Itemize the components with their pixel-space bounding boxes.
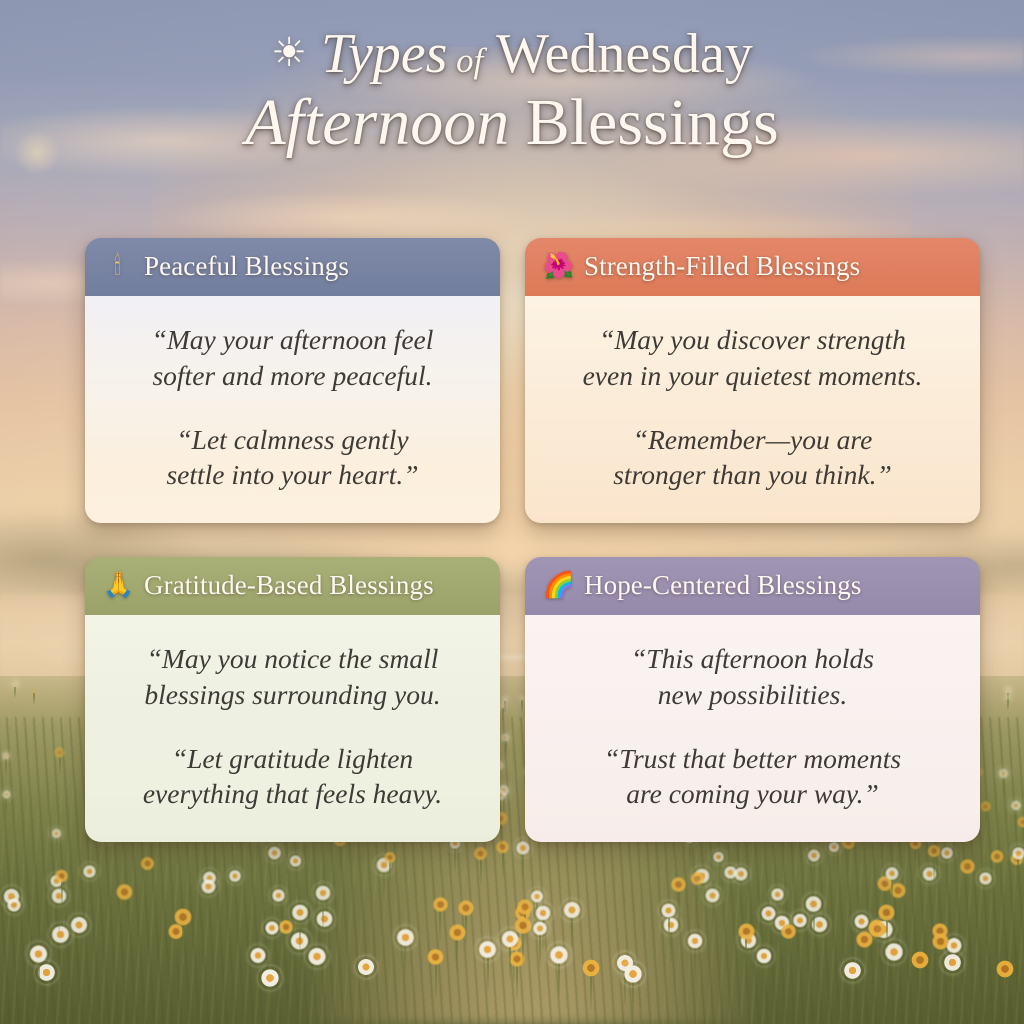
card-body-peaceful: “May your afternoon feelsofter and more … xyxy=(85,296,500,523)
blessing-quote: “This afternoon holdsnew possibilities. xyxy=(547,641,958,713)
quote-line: new possibilities. xyxy=(547,677,958,713)
blessing-quote: “May your afternoon feelsofter and more … xyxy=(107,322,478,394)
blessing-quote: “Let gratitude lighteneverything that fe… xyxy=(107,741,478,813)
card-header-strength: 🌺Strength-Filled Blessings xyxy=(525,238,980,296)
quote-line: are coming your way.” xyxy=(547,776,958,812)
flower-icon: 🌺 xyxy=(543,254,572,279)
blessing-quote: “Let calmness gentlysettle into your hea… xyxy=(107,422,478,494)
quote-line: “Let calmness gently xyxy=(107,422,478,458)
quote-line: “May you notice the small xyxy=(107,641,478,677)
quote-line: “May you discover strength xyxy=(547,322,958,358)
quote-line: “This afternoon holds xyxy=(547,641,958,677)
quote-line: blessings surrounding you. xyxy=(107,677,478,713)
title-word-afternoon: Afternoon xyxy=(245,86,509,159)
sun-icon: ☀ xyxy=(271,33,307,74)
infographic-canvas: ☀Types of Wednesday Afternoon Blessings … xyxy=(0,0,1024,1024)
blessing-quote: “May you discover strengtheven in your q… xyxy=(547,322,958,394)
card-body-hope: “This afternoon holdsnew possibilities.“… xyxy=(525,615,980,842)
candle-icon: 🕯 xyxy=(103,254,132,279)
quote-line: even in your quietest moments. xyxy=(547,358,958,394)
content-layer: ☀Types of Wednesday Afternoon Blessings … xyxy=(0,0,1024,1024)
rainbow-icon: 🌈 xyxy=(543,573,572,598)
title-word-wednesday: Wednesday xyxy=(496,23,753,85)
blessing-card-hope[interactable]: 🌈Hope-Centered Blessings“This afternoon … xyxy=(525,557,980,842)
card-body-strength: “May you discover strengtheven in your q… xyxy=(525,296,980,523)
blessing-quote: “Trust that better momentsare coming you… xyxy=(547,741,958,813)
quote-line: settle into your heart.” xyxy=(107,457,478,493)
blessing-quote: “May you notice the smallblessings surro… xyxy=(107,641,478,713)
card-header-gratitude: 🙏Gratitude-Based Blessings xyxy=(85,557,500,615)
title-line-2: Afternoon Blessings xyxy=(0,89,1024,156)
quote-line: “Remember—you are xyxy=(547,422,958,458)
quote-line: “Trust that better moments xyxy=(547,741,958,777)
page-title: ☀Types of Wednesday Afternoon Blessings xyxy=(0,26,1024,156)
quote-line: “May your afternoon feel xyxy=(107,322,478,358)
quote-line: everything that feels heavy. xyxy=(107,776,478,812)
blessing-card-gratitude[interactable]: 🙏Gratitude-Based Blessings“May you notic… xyxy=(85,557,500,842)
quote-line: stronger than you think.” xyxy=(547,457,958,493)
card-header-peaceful: 🕯Peaceful Blessings xyxy=(85,238,500,296)
card-title-hope: Hope-Centered Blessings xyxy=(584,570,862,601)
title-word-of xyxy=(447,41,456,80)
card-body-gratitude: “May you notice the smallblessings surro… xyxy=(85,615,500,842)
blessing-card-grid: 🕯Peaceful Blessings“May your afternoon f… xyxy=(85,238,980,842)
blessing-quote: “Remember—you arestronger than you think… xyxy=(547,422,958,494)
praying-hands-icon: 🙏 xyxy=(103,573,132,598)
quote-line: “Let gratitude lighten xyxy=(107,741,478,777)
card-header-hope: 🌈Hope-Centered Blessings xyxy=(525,557,980,615)
blessing-card-peaceful[interactable]: 🕯Peaceful Blessings“May your afternoon f… xyxy=(85,238,500,523)
title-line-1: ☀Types of Wednesday xyxy=(0,26,1024,83)
card-title-strength: Strength-Filled Blessings xyxy=(584,251,860,282)
card-title-gratitude: Gratitude-Based Blessings xyxy=(144,570,434,601)
quote-line: softer and more peaceful. xyxy=(107,358,478,394)
title-word-types: Types xyxy=(321,23,448,85)
title-word-blessings: Blessings xyxy=(526,86,779,159)
blessing-card-strength[interactable]: 🌺Strength-Filled Blessings“May you disco… xyxy=(525,238,980,523)
card-title-peaceful: Peaceful Blessings xyxy=(144,251,349,282)
